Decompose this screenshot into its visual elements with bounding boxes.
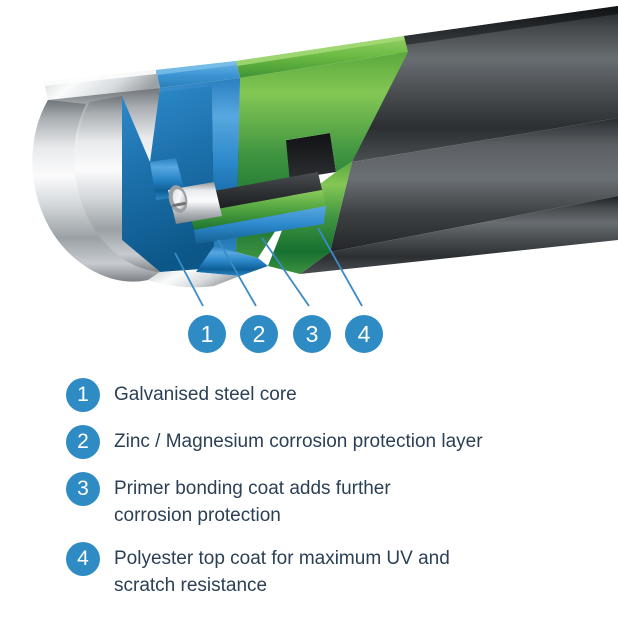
legend-label-3: Primer bonding coat adds further corrosi… bbox=[114, 472, 391, 529]
callout-badge-4[interactable]: 4 bbox=[345, 315, 383, 353]
legend-badge-1: 1 bbox=[66, 378, 100, 412]
legend-label-4: Polyester top coat for maximum UV and sc… bbox=[114, 542, 450, 599]
legend-label-1: Galvanised steel core bbox=[114, 378, 297, 408]
legend-item-4[interactable]: 4 Polyester top coat for maximum UV and … bbox=[0, 542, 618, 599]
pipe-layer-diagram: 1 2 3 4 1 Galvanised steel core 2 Zinc /… bbox=[0, 0, 618, 634]
callout-badge-1[interactable]: 1 bbox=[188, 315, 226, 353]
legend-badge-3: 3 bbox=[66, 472, 100, 506]
legend-item-1[interactable]: 1 Galvanised steel core bbox=[0, 378, 618, 412]
legend-item-3[interactable]: 3 Primer bonding coat adds further corro… bbox=[0, 472, 618, 529]
legend-badge-4: 4 bbox=[66, 542, 100, 576]
callout-badge-3[interactable]: 3 bbox=[293, 315, 331, 353]
legend-label-2: Zinc / Magnesium corrosion protection la… bbox=[114, 425, 483, 455]
legend-item-2[interactable]: 2 Zinc / Magnesium corrosion protection … bbox=[0, 425, 618, 459]
legend-badge-2: 2 bbox=[66, 425, 100, 459]
callout-badge-2[interactable]: 2 bbox=[240, 315, 278, 353]
legend-list: 1 Galvanised steel core 2 Zinc / Magnesi… bbox=[0, 378, 618, 612]
